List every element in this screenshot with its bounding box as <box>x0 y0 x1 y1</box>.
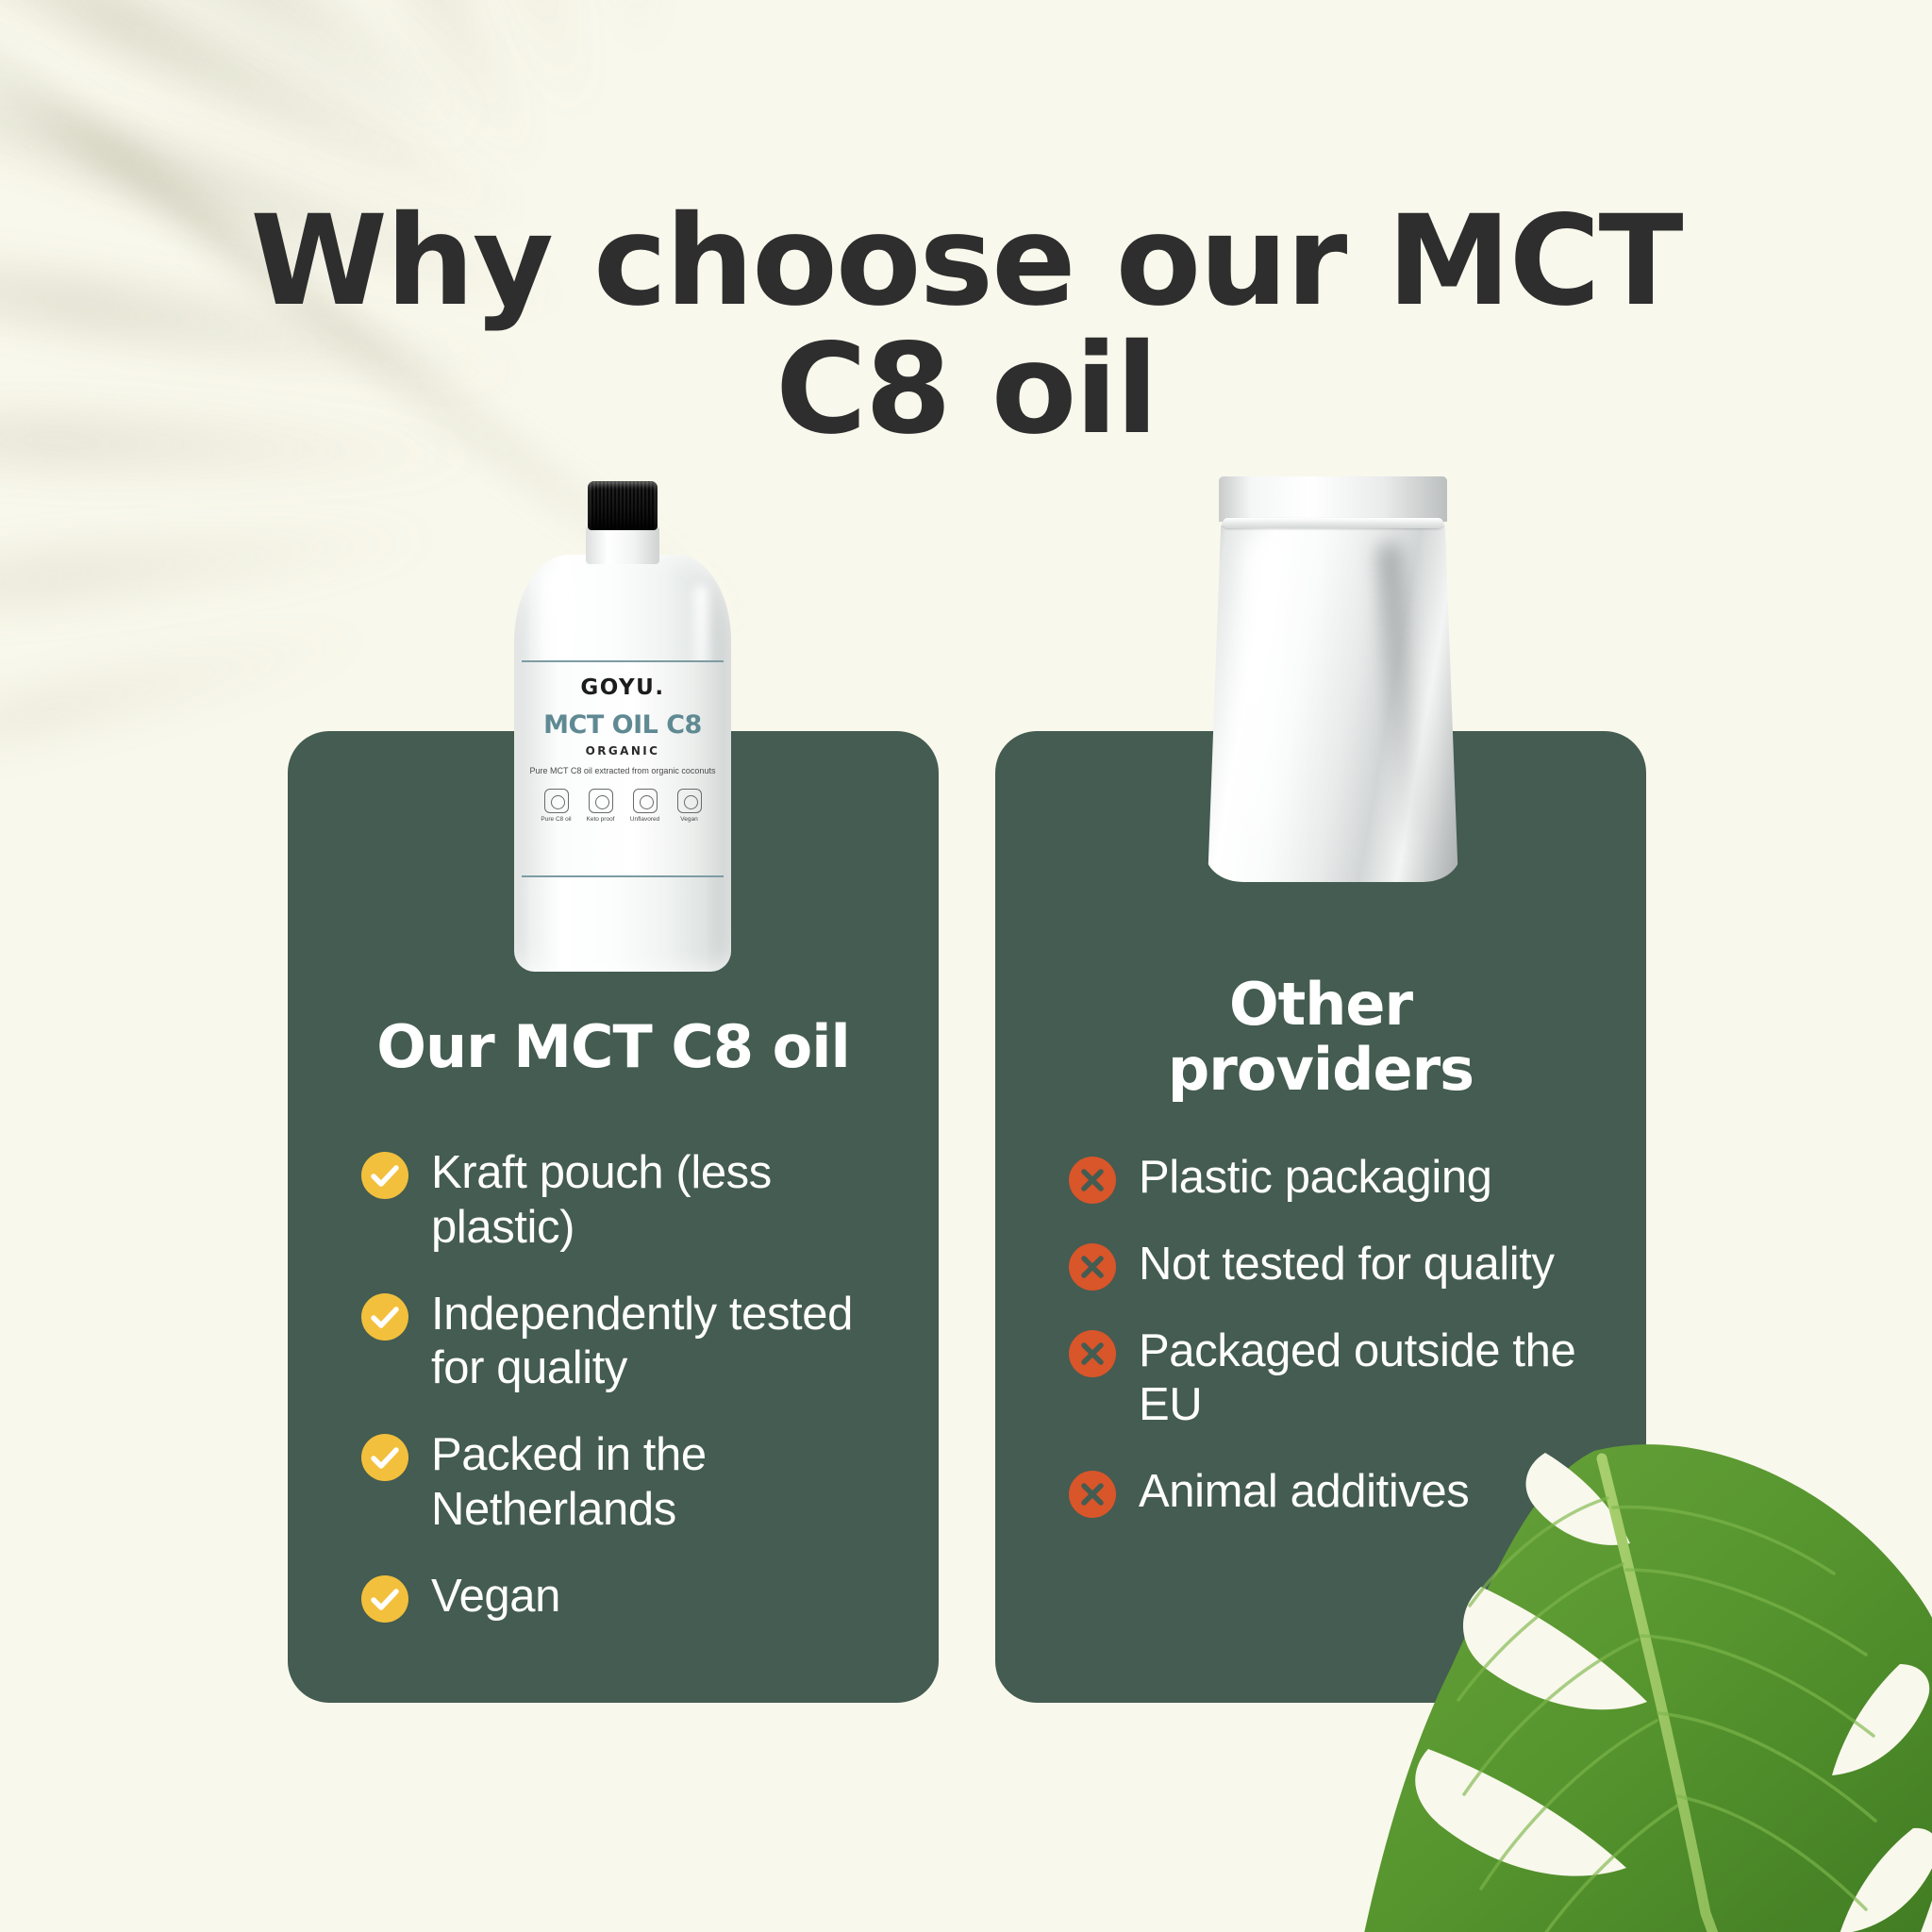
list-item-label: Vegan <box>431 1570 560 1624</box>
pouch-zip-seal <box>1223 518 1443 528</box>
no-sugar-icon <box>589 789 613 813</box>
check-circle-icon <box>361 1152 408 1199</box>
badge-caption: Pure C8 oil <box>541 816 573 823</box>
list-item-label: Not tested for quality <box>1139 1238 1555 1292</box>
cross-circle-icon <box>1069 1157 1116 1204</box>
check-circle-icon <box>361 1575 408 1623</box>
pouch-top-flap <box>1219 476 1447 522</box>
bottle-neck <box>586 526 659 564</box>
right-card-heading-line1: Other <box>995 972 1646 1037</box>
infographic-canvas: Why choose our MCT C8 oil Our MCT C8 oil… <box>0 0 1932 1932</box>
bottle-label-product: MCT OIL C8 <box>522 710 724 740</box>
list-item-label: Independently tested for quality <box>431 1288 890 1397</box>
badge-vegan: Vegan <box>674 789 706 823</box>
list-item-label: Packed in the Netherlands <box>431 1428 890 1538</box>
badge-caption: Keto proof <box>585 816 617 823</box>
bottle-label-description: Pure MCT C8 oil extracted from organic c… <box>522 766 724 777</box>
list-item-label: Animal additives <box>1139 1465 1469 1520</box>
leaf-icon <box>633 789 658 813</box>
right-card-bullet-list: Plastic packaging Not tested for quality… <box>1069 1151 1597 1520</box>
list-item: Animal additives <box>1069 1465 1597 1520</box>
bottle-label: GOYU. MCT OIL C8 ORGANIC Pure MCT C8 oil… <box>522 660 724 877</box>
right-card-heading: Other providers <box>995 972 1646 1103</box>
goyu-glass-bottle-image: GOYU. MCT OIL C8 ORGANIC Pure MCT C8 oil… <box>514 481 731 972</box>
list-item: Not tested for quality <box>1069 1238 1597 1292</box>
bottle-label-qualifier: ORGANIC <box>522 744 724 758</box>
heart-icon <box>677 789 702 813</box>
cross-circle-icon <box>1069 1243 1116 1291</box>
left-card-heading: Our MCT C8 oil <box>288 1014 939 1079</box>
list-item: Plastic packaging <box>1069 1151 1597 1206</box>
droplet-icon <box>544 789 569 813</box>
page-title: Why choose our MCT C8 oil <box>192 198 1740 455</box>
list-item: Packaged outside the EU <box>1069 1324 1597 1434</box>
left-card-bullet-list: Kraft pouch (less plastic) Independently… <box>361 1146 890 1624</box>
right-card-heading-line2: providers <box>995 1037 1646 1102</box>
badge-pure-c8-oil: Pure C8 oil <box>541 789 573 823</box>
list-item: Packed in the Netherlands <box>361 1428 890 1538</box>
list-item-label: Plastic packaging <box>1139 1151 1492 1206</box>
check-circle-icon <box>361 1293 408 1341</box>
list-item: Kraft pouch (less plastic) <box>361 1146 890 1256</box>
list-item: Vegan <box>361 1570 890 1624</box>
badge-caption: Unflavored <box>629 816 661 823</box>
badge-caption: Vegan <box>674 816 706 823</box>
list-item: Independently tested for quality <box>361 1288 890 1397</box>
cross-circle-icon <box>1069 1471 1116 1518</box>
silver-foil-pouch-image <box>1206 476 1460 882</box>
bottle-label-badges: Pure C8 oil Keto proof Unflavored Vegan <box>522 789 724 823</box>
check-circle-icon <box>361 1434 408 1481</box>
list-item-label: Packaged outside the EU <box>1139 1324 1597 1434</box>
list-item-label: Kraft pouch (less plastic) <box>431 1146 890 1256</box>
bottle-cap <box>588 481 658 530</box>
bottle-label-brand: GOYU. <box>522 675 724 700</box>
cross-circle-icon <box>1069 1330 1116 1377</box>
badge-keto-proof: Keto proof <box>585 789 617 823</box>
badge-unflavored: Unflavored <box>629 789 661 823</box>
